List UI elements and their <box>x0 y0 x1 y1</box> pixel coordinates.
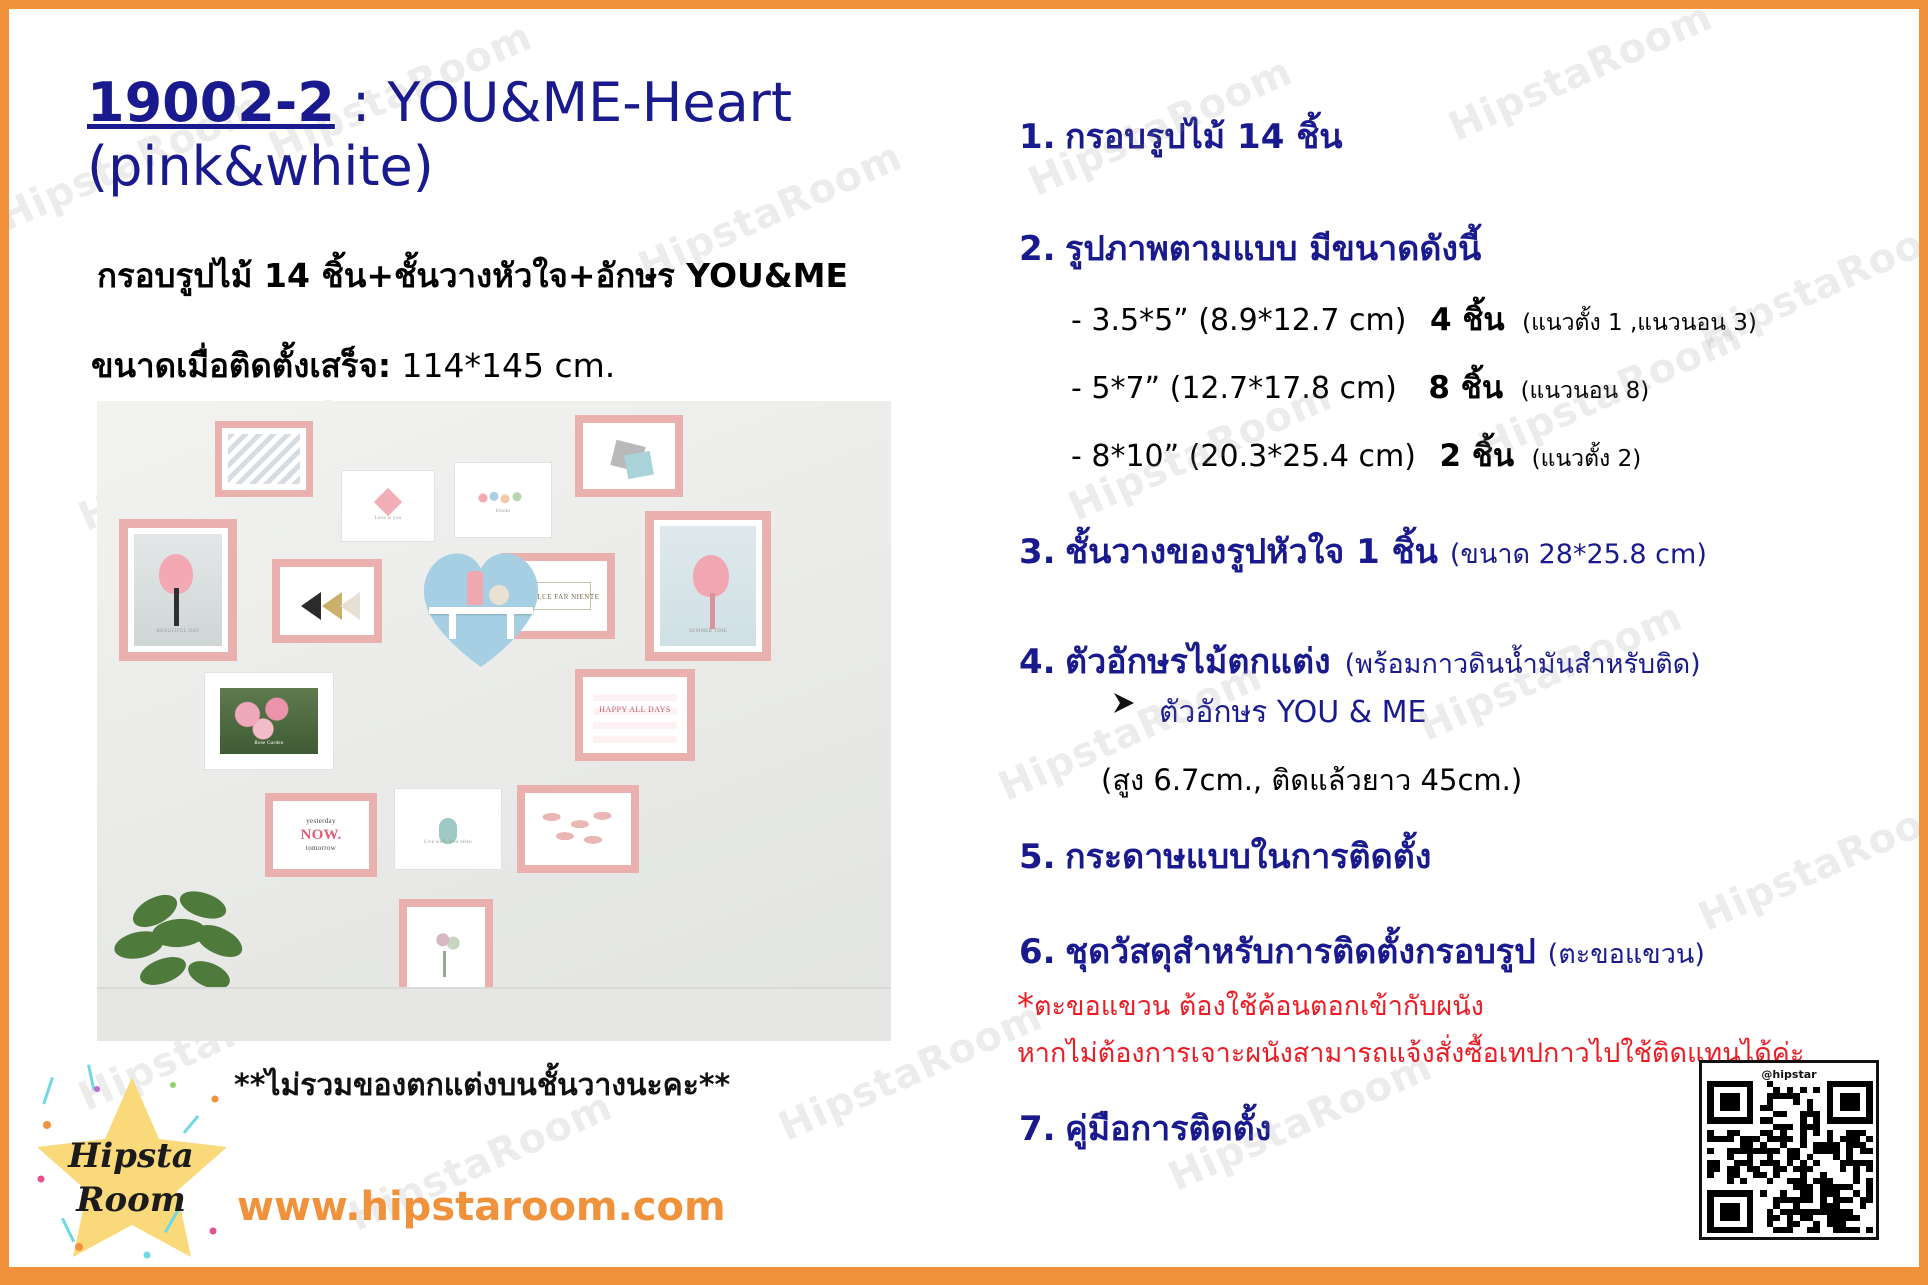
list-text: กระดาษแบบในการติดตั้ง <box>1065 837 1431 877</box>
warning-line-1: *ตะขอแขวน ต้องใช้ค้อนตอกเข้ากับผนัง <box>1017 984 1484 1027</box>
frame-art <box>413 913 479 995</box>
heart-shelf <box>415 541 547 669</box>
qr-handle-label: @hipstar <box>1707 1068 1871 1081</box>
list-item-5: 5.กระดาษแบบในการติดตั้ง <box>1019 829 1431 883</box>
frame-art <box>589 429 669 483</box>
product-name-line1: YOU&ME-Heart <box>387 71 792 134</box>
infographic-page: HipstaRoom HipstaRoom HipstaRoom HipstaR… <box>0 0 1928 1285</box>
frame-art <box>531 799 625 859</box>
frame-caption: Rose Garden <box>220 741 318 746</box>
installed-dimension-value: 114*145 cm. <box>402 346 616 385</box>
watermark-text: HipstaRoom <box>1442 9 1719 151</box>
list-item-3: 3.ชั้นวางของรูปหัวใจ 1 ชิ้น(ขนาด 28*25.8… <box>1019 524 1707 578</box>
shelf-decor-shell <box>489 585 509 605</box>
logo-name-line2: Room <box>75 1180 186 1220</box>
frame-art: yesterday NOW. tomorrow <box>279 807 363 863</box>
list-item-6: 6.ชุดวัสดุสำหรับการติดตั้งกรอบรูป(ตะขอแข… <box>1019 924 1705 978</box>
product-code: 19002-2 <box>87 71 335 134</box>
list-note: (ขนาด 28*25.8 cm) <box>1450 539 1707 570</box>
brand-logo: Hipsta Room <box>27 1059 237 1264</box>
frame-happy-all-days: HAPPY ALL DAYS <box>575 669 695 761</box>
letters-size-note: (สูง 6.7cm., ติดแล้วยาว 45cm.) <box>1101 757 1522 803</box>
installed-dimension: ขนาดเมื่อติดตั้งเสร็จ: 114*145 cm. <box>91 339 615 392</box>
size-line-1: - 3.5*5” (8.9*12.7 cm) 4 ชิ้น (แนวตั้ง 1… <box>1071 294 1757 344</box>
frame-caption: Love is you <box>355 516 421 521</box>
watermark-text: HipstaRoom <box>1692 783 1919 940</box>
frame-chevron <box>215 421 313 497</box>
frame-feathers <box>517 785 639 873</box>
list-number: 6. <box>1019 932 1065 972</box>
frame-caption: NOW. <box>279 827 363 844</box>
arrow-bullet-icon <box>1111 691 1137 722</box>
frame-art: HAPPY ALL DAYS <box>589 683 681 747</box>
size-note: (แนวตั้ง 2) <box>1532 446 1642 472</box>
size-value: - 5*7” (12.7*17.8 cm) <box>1071 371 1397 406</box>
photo-floor <box>97 989 891 1041</box>
size-value: - 8*10” (20.3*25.4 cm) <box>1071 439 1416 474</box>
product-photo: Love is you bloom BEAUTIFUL DAY <box>97 401 891 1041</box>
frame-art: bloom <box>468 476 538 524</box>
list-text: ตัวอักษรไม้ตกแต่ง <box>1065 642 1331 682</box>
frame-roses: Rose Garden <box>205 673 333 769</box>
frame-art <box>286 573 368 629</box>
bottom-accent-bar <box>9 1267 1919 1276</box>
frame-caption: SUMMER TIME <box>660 629 756 634</box>
list-note: (ตะขอแขวน) <box>1548 939 1705 970</box>
list-note: (พร้อมกาวดินน้ำมันสำหรับติด) <box>1345 649 1701 680</box>
frame-caption: yesterday <box>279 817 363 825</box>
logo-name-line1: Hipsta <box>67 1136 194 1176</box>
product-subtitle: กรอบรูปไม้ 14 ชิ้น+ชั้นวางหัวใจ+อักษร YO… <box>97 249 848 302</box>
frame-caption: HAPPY ALL DAYS <box>589 705 681 714</box>
frame-triangles <box>272 559 382 643</box>
list-number: 2. <box>1019 229 1065 269</box>
size-qty: 2 ชิ้น <box>1440 438 1515 474</box>
warning-text-1: ตะขอแขวน ต้องใช้ค้อนตอกเข้ากับผนัง <box>1034 991 1484 1022</box>
qr-code-box[interactable]: @hipstar <box>1699 1060 1879 1240</box>
list-number: 4. <box>1019 642 1065 682</box>
size-value: - 3.5*5” (8.9*12.7 cm) <box>1071 303 1406 338</box>
frame-caption: bloom <box>468 509 538 514</box>
list-text: รูปภาพตามแบบ มีขนาดดังนี้ <box>1065 229 1481 269</box>
size-note: (แนวนอน 8) <box>1521 378 1650 404</box>
frame-art: BEAUTIFUL DAY <box>134 534 222 646</box>
list-item-7: 7.คู่มือการติดตั้ง <box>1019 1101 1271 1155</box>
page-title: 19002-2 : YOU&ME-Heart (pink&white) <box>87 71 967 199</box>
letters-bullet-text: ตัวอักษร YOU & ME <box>1159 689 1427 736</box>
list-number: 7. <box>1019 1109 1065 1149</box>
frame-caption: Live well, love often <box>409 840 487 845</box>
frame-caption: tomorrow <box>279 844 363 852</box>
warning-line-2: หากไม่ต้องการเจาะผนังสามารถแจ้งสั่งซื้อเ… <box>1017 1031 1804 1074</box>
size-qty: 4 ชิ้น <box>1430 302 1505 338</box>
size-line-3: - 8*10” (20.3*25.4 cm) 2 ชิ้น (แนวตั้ง 2… <box>1071 430 1641 480</box>
frame-flamingo-left: BEAUTIFUL DAY <box>119 519 237 661</box>
list-item-1: 1.กรอบรูปไม้ 14 ชิ้น <box>1019 109 1343 163</box>
qr-code-image <box>1707 1081 1873 1233</box>
shelf-board <box>429 607 533 614</box>
frame-cactus: Live well, love often <box>395 789 501 869</box>
letters-size-note-text: (สูง 6.7cm., ติดแล้วยาว 45cm.) <box>1101 763 1522 797</box>
list-text: กรอบรูปไม้ 14 ชิ้น <box>1065 117 1343 157</box>
list-number: 3. <box>1019 532 1065 572</box>
size-qty: 8 ชิ้น <box>1428 370 1503 406</box>
frame-flamingo-right: SUMMER TIME <box>645 511 771 661</box>
frame-art: SUMMER TIME <box>660 526 756 646</box>
frame-art: Love is you <box>355 484 421 528</box>
photo-disclaimer-note: **ไม่รวมของตกแต่งบนชั้นวางนะคะ** <box>234 1062 730 1109</box>
list-text: ชั้นวางของรูปหัวใจ 1 ชิ้น <box>1065 532 1438 572</box>
frame-art <box>228 434 300 484</box>
size-line-2: - 5*7” (12.7*17.8 cm) 8 ชิ้น (แนวนอน 8) <box>1071 362 1649 412</box>
frame-art: Live well, love often <box>409 803 487 855</box>
frame-floral: bloom <box>455 463 551 537</box>
asterisk-icon: * <box>1017 986 1034 1026</box>
product-name-line2: (pink&white) <box>87 135 434 198</box>
frame-geometric <box>575 415 683 497</box>
shelf-bracket-right <box>507 613 514 639</box>
warning-text-2: หากไม่ต้องการเจาะผนังสามารถแจ้งสั่งซื้อเ… <box>1017 1038 1804 1069</box>
list-text: ชุดวัสดุสำหรับการติดตั้งกรอบรูป <box>1065 932 1536 972</box>
size-note: (แนวตั้ง 1 ,แนวนอน 3) <box>1522 310 1757 336</box>
website-url[interactable]: www.hipstaroom.com <box>237 1184 726 1230</box>
list-number: 1. <box>1019 117 1065 157</box>
list-text: คู่มือการติดตั้ง <box>1065 1109 1271 1149</box>
installed-dimension-label: ขนาดเมื่อติดตั้งเสร็จ: <box>91 346 391 385</box>
frame-pink-heart: Love is you <box>342 471 434 541</box>
shelf-decor-doll <box>467 571 483 605</box>
frame-art: Rose Garden <box>220 688 318 754</box>
frame-now: yesterday NOW. tomorrow <box>265 793 377 877</box>
list-item-2: 2.รูปภาพตามแบบ มีขนาดดังนี้ <box>1019 221 1481 275</box>
title-separator: : <box>335 71 388 134</box>
list-number: 5. <box>1019 837 1065 877</box>
frame-caption: BEAUTIFUL DAY <box>134 629 222 634</box>
shelf-bracket-left <box>449 613 456 639</box>
list-item-4: 4.ตัวอักษรไม้ตกแต่ง(พร้อมกาวดินน้ำมันสำห… <box>1019 634 1701 688</box>
